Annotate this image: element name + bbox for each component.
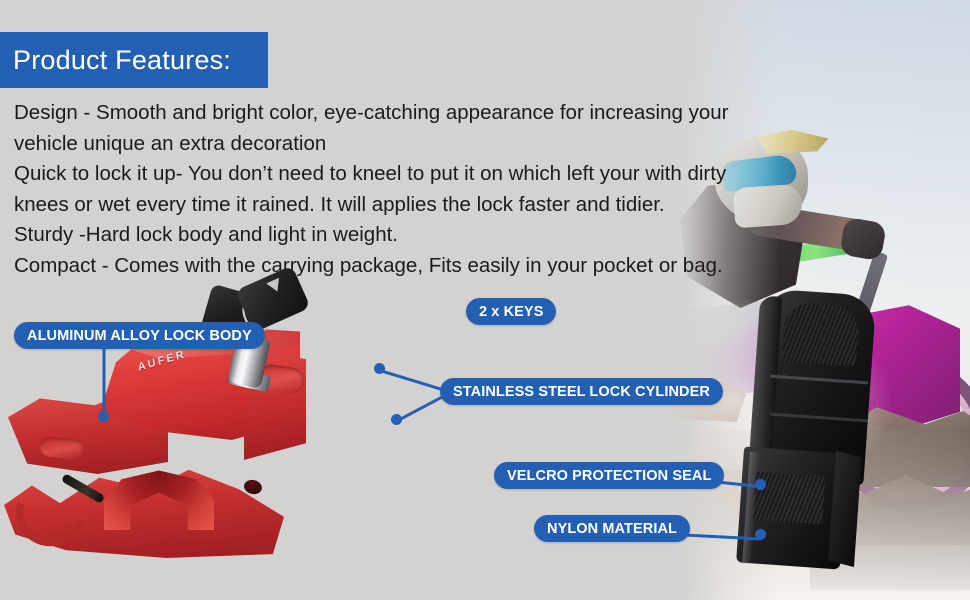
leader-dot-stainless-steel-lock-cylinder (374, 363, 385, 374)
feature-line: Compact - Comes with the carrying packag… (14, 251, 804, 282)
feature-line: knees or wet every time it rained. It wi… (14, 190, 804, 221)
leader-dot-aluminum-alloy-lock-body (98, 411, 109, 422)
velcro-patch-top (782, 301, 860, 366)
callout-aluminum-alloy-lock-body[interactable]: ALUMINUM ALLOY LOCK BODY (14, 322, 265, 349)
product-features-infographic: Product Features: Design - Smooth and br… (0, 0, 970, 600)
leader-line-aluminum-alloy-lock-body (103, 346, 106, 416)
feature-line: Sturdy -Hard lock body and light in weig… (14, 220, 804, 251)
leader-dot-nylon-material (755, 529, 766, 540)
callout-velcro-protection-seal[interactable]: VELCRO PROTECTION SEAL (494, 462, 724, 489)
callout-two-keys[interactable]: 2 x KEYS (466, 298, 556, 325)
feature-line: Quick to lock it up- You don’t need to k… (14, 159, 804, 190)
page-title: Product Features: (0, 45, 231, 76)
callout-nylon-material[interactable]: NYLON MATERIAL (534, 515, 690, 542)
nylon-carrying-pouch (740, 292, 890, 568)
feature-line: Design - Smooth and bright color, eye-ca… (14, 98, 804, 129)
feature-line: vehicle unique an extra decoration (14, 129, 804, 160)
leader-dot-velcro-protection-seal (755, 479, 766, 490)
leader-dot-two-keys (391, 414, 402, 425)
header-band: Product Features: (0, 32, 268, 88)
lock-bolt-hole (243, 478, 264, 496)
callout-stainless-steel-lock-cylinder[interactable]: STAINLESS STEEL LOCK CYLINDER (440, 378, 723, 405)
feature-list: Design - Smooth and bright color, eye-ca… (14, 98, 804, 281)
